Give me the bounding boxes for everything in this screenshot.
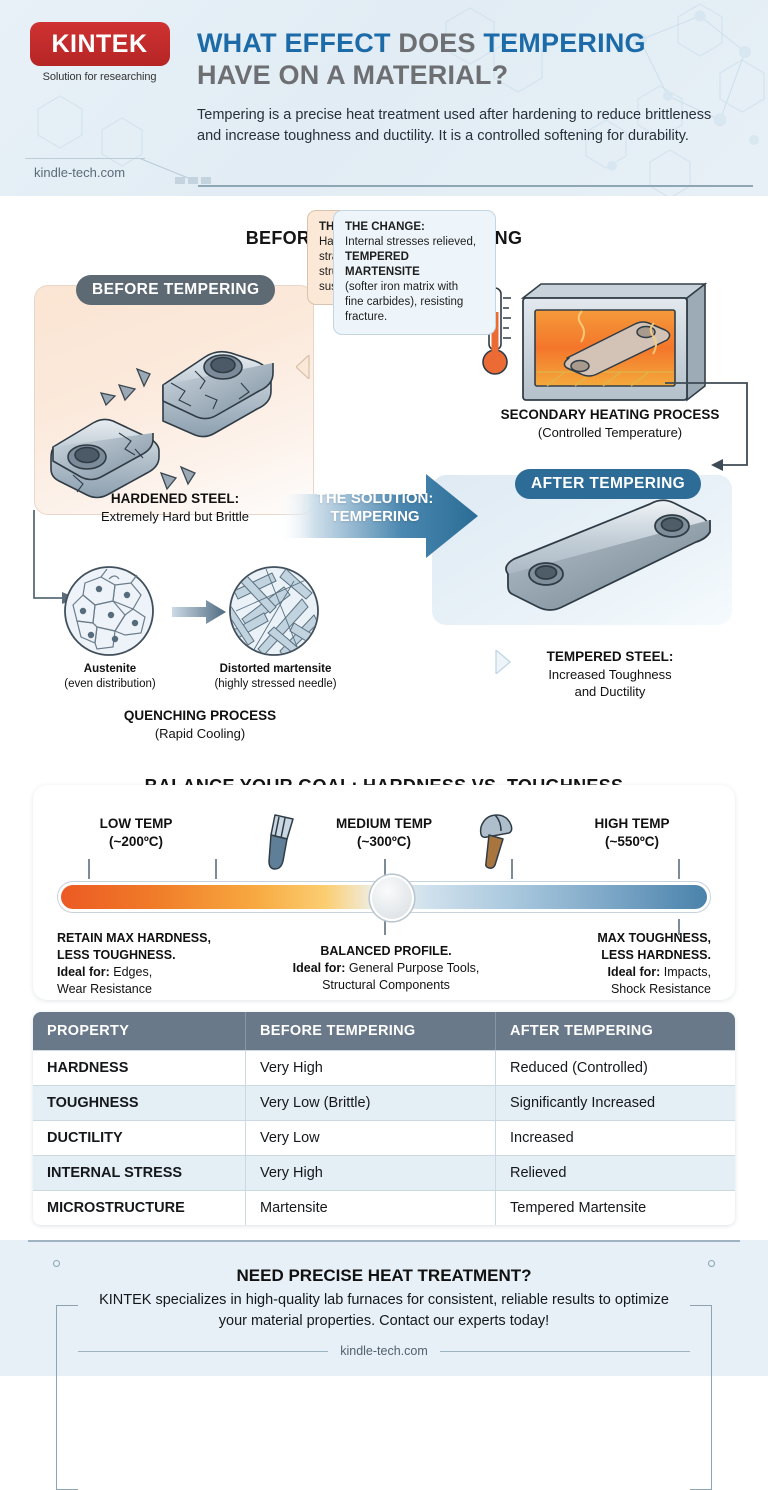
title-part-1: WHAT EFFECT: [197, 28, 398, 58]
slider-desc-mid-head-1: BALANCED PROFILE.: [320, 944, 451, 958]
header-dash-marks: [175, 177, 211, 184]
table-row: DUCTILITY Very Low Increased: [33, 1120, 735, 1155]
slider-stop-low-value: (~200ºC): [61, 833, 211, 851]
martensite-sub: (highly stressed needle): [214, 678, 336, 690]
hardness-toughness-slider-card: LOW TEMP (~200ºC) MEDIUM TEMP (~300ºC) H…: [33, 785, 735, 1000]
slider-tick-2: [215, 859, 217, 879]
slider-desc-low-head-2: LESS TOUGHNESS.: [57, 948, 176, 962]
slider-desc-high: MAX TOUGHNESS, LESS HARDNESS. Ideal for:…: [496, 930, 711, 998]
slider-tick-4: [511, 859, 513, 879]
tempered-steel-label: TEMPERED STEEL: Increased Toughness and …: [500, 648, 720, 700]
footer-top-rule: [28, 1240, 740, 1242]
table-col-after: AFTER TEMPERING: [496, 1012, 735, 1050]
slider-stop-high-label: HIGH TEMP: [557, 815, 707, 833]
tempered-steel-title: TEMPERED STEEL:: [500, 648, 720, 666]
change-callout-tail: [495, 650, 511, 674]
slider-desc-high-head-1: MAX TOUGHNESS,: [597, 931, 711, 945]
tempered-steel-sub-1: Increased Toughness: [548, 667, 671, 682]
slider-stop-high-value: (~550ºC): [557, 833, 707, 851]
table-cell-after: Tempered Martensite: [496, 1190, 735, 1225]
header-divider-line: [25, 158, 145, 159]
table-cell-property: DUCTILITY: [33, 1120, 246, 1155]
slider-desc-high-ideal-label: Ideal for:: [607, 965, 660, 979]
microstructure-transition-arrow: [172, 600, 226, 624]
change-heading: THE CHANGE:: [345, 221, 425, 233]
table-cell-after: Increased: [496, 1120, 735, 1155]
table-cell-after: Reduced (Controlled): [496, 1050, 735, 1085]
austenite-title: Austenite: [50, 662, 170, 677]
slider-desc-mid-ideal-label: Ideal for:: [293, 961, 346, 975]
slider-desc-mid-ideal-1: General Purpose Tools,: [345, 961, 479, 975]
slider-desc-low-head-1: RETAIN MAX HARDNESS,: [57, 931, 211, 945]
slider-desc-low-ideal-label: Ideal for:: [57, 965, 110, 979]
slider-stop-medium: MEDIUM TEMP (~300ºC): [309, 815, 459, 850]
slider-stop-medium-value: (~300ºC): [309, 833, 459, 851]
table-header-row: PROPERTY BEFORE TEMPERING AFTER TEMPERIN…: [33, 1012, 735, 1050]
chisel-icon: [263, 811, 303, 871]
header-base-rule: [198, 185, 753, 187]
table-cell-property: MICROSTRUCTURE: [33, 1190, 246, 1225]
austenite-microstructure-icon: [63, 565, 155, 657]
page-subtitle: Tempering is a precise heat treatment us…: [197, 105, 727, 148]
change-line-5: fracture.: [345, 311, 387, 323]
title-part-3: TEMPERING: [483, 28, 645, 58]
austenite-sub: (even distribution): [64, 678, 155, 690]
table-cell-property: TOUGHNESS: [33, 1085, 246, 1120]
page-header: KINTEK Solution for researching kindle-t…: [0, 0, 768, 196]
table-cell-before: Very High: [246, 1155, 496, 1190]
table-cell-property: HARDNESS: [33, 1050, 246, 1085]
footer-bracket-right: [690, 1305, 712, 1490]
table-cell-before: Martensite: [246, 1190, 496, 1225]
broken-steel-part-illustration: [45, 325, 295, 500]
page-footer: NEED PRECISE HEAT TREATMENT? KINTEK spec…: [0, 1240, 768, 1376]
logo-tagline: Solution for researching: [22, 71, 177, 83]
slider-desc-high-head-2: LESS HARDNESS.: [601, 948, 711, 962]
table-cell-before: Very Low (Brittle): [246, 1085, 496, 1120]
table-row: TOUGHNESS Very Low (Brittle) Significant…: [33, 1085, 735, 1120]
slider-desc-mid: BALANCED PROFILE. Ideal for: General Pur…: [251, 943, 521, 994]
slider-tick-1: [88, 859, 90, 879]
slider-stop-high: HIGH TEMP (~550ºC): [557, 815, 707, 850]
logo-badge: KINTEK: [30, 22, 170, 66]
hardened-steel-title: HARDENED STEEL:: [40, 490, 310, 508]
solution-arrow-text: THE SOLUTION: TEMPERING: [310, 490, 440, 527]
slider-stop-medium-label: MEDIUM TEMP: [309, 815, 459, 833]
change-line-3: (softer iron matrix with: [345, 281, 458, 293]
quenching-sub: (Rapid Cooling): [155, 726, 245, 741]
logo-text: KINTEK: [51, 30, 147, 59]
badge-before-tempering: BEFORE TEMPERING: [76, 275, 275, 305]
furnace-to-after-connector: [655, 315, 765, 485]
table-row: INTERNAL STRESS Very High Relieved: [33, 1155, 735, 1190]
table-cell-property: INTERNAL STRESS: [33, 1155, 246, 1190]
table-cell-after: Significantly Increased: [496, 1085, 735, 1120]
table-col-before: BEFORE TEMPERING: [246, 1012, 496, 1050]
tempered-steel-sub-2: and Ductility: [575, 684, 646, 699]
martensite-microstructure-icon: [228, 565, 320, 657]
comparison-table: PROPERTY BEFORE TEMPERING AFTER TEMPERIN…: [33, 1012, 735, 1225]
footer-site-url: kindle-tech.com: [0, 1344, 768, 1358]
callout-the-change: THE CHANGE: Internal stresses relieved, …: [333, 210, 496, 335]
slider-desc-high-ideal-2: Shock Resistance: [611, 982, 711, 996]
slider-desc-high-ideal-1: Impacts,: [660, 965, 711, 979]
hardened-steel-sub: Extremely Hard but Brittle: [101, 509, 249, 524]
change-line-2-bold: TEMPERED MARTENSITE: [345, 251, 420, 278]
table-cell-after: Relieved: [496, 1155, 735, 1190]
austenite-label: Austenite (even distribution): [50, 662, 170, 692]
footer-bracket-left: [56, 1305, 78, 1490]
page-title: WHAT EFFECT DOES TEMPERING HAVE ON A MAT…: [197, 28, 753, 91]
slider-desc-low-ideal-2: Wear Resistance: [57, 982, 152, 996]
martensite-title: Distorted martensite: [198, 662, 353, 677]
table-cell-before: Very High: [246, 1050, 496, 1085]
quenching-label: QUENCHING PROCESS (Rapid Cooling): [45, 707, 355, 742]
change-line-1: Internal stresses relieved,: [345, 236, 476, 248]
slider-stop-low-label: LOW TEMP: [61, 815, 211, 833]
problem-callout-tail: [296, 355, 310, 379]
brand-logo[interactable]: KINTEK Solution for researching: [22, 22, 177, 83]
slider-tick-center-bottom: [384, 919, 386, 935]
before-after-diagram: BEFORE TEMPERING AFTER TEMPERING: [0, 210, 768, 765]
solution-arrow: THE SOLUTION: TEMPERING: [278, 472, 478, 560]
table-row: HARDNESS Very High Reduced (Controlled): [33, 1050, 735, 1085]
solution-line-1: THE SOLUTION:: [317, 490, 434, 507]
slider-tick-5: [678, 859, 680, 879]
tempered-steel-part-illustration: [500, 498, 720, 618]
table-cell-before: Very Low: [246, 1120, 496, 1155]
footer-heading: NEED PRECISE HEAT TREATMENT?: [0, 1266, 768, 1286]
table-col-property: PROPERTY: [33, 1012, 246, 1050]
quenching-title: QUENCHING PROCESS: [45, 707, 355, 725]
footer-body: KINTEK specializes in high-quality lab f…: [94, 1290, 674, 1331]
temperature-slider-knob[interactable]: [370, 875, 414, 921]
title-part-4: HAVE ON A MATERIAL?: [197, 60, 508, 90]
title-part-2: DOES: [398, 28, 483, 58]
slider-stop-low: LOW TEMP (~200ºC): [61, 815, 211, 850]
solution-line-2: TEMPERING: [330, 508, 419, 525]
martensite-label: Distorted martensite (highly stressed ne…: [198, 662, 353, 692]
header-site-url: kindle-tech.com: [34, 165, 125, 180]
slider-desc-low: RETAIN MAX HARDNESS, LESS TOUGHNESS. Ide…: [57, 930, 272, 998]
slider-desc-low-ideal-1: Edges,: [110, 965, 152, 979]
slider-desc-mid-ideal-2: Structural Components: [322, 978, 450, 992]
table-row: MICROSTRUCTURE Martensite Tempered Marte…: [33, 1190, 735, 1225]
change-line-4: fine carbides), resisting: [345, 296, 463, 308]
